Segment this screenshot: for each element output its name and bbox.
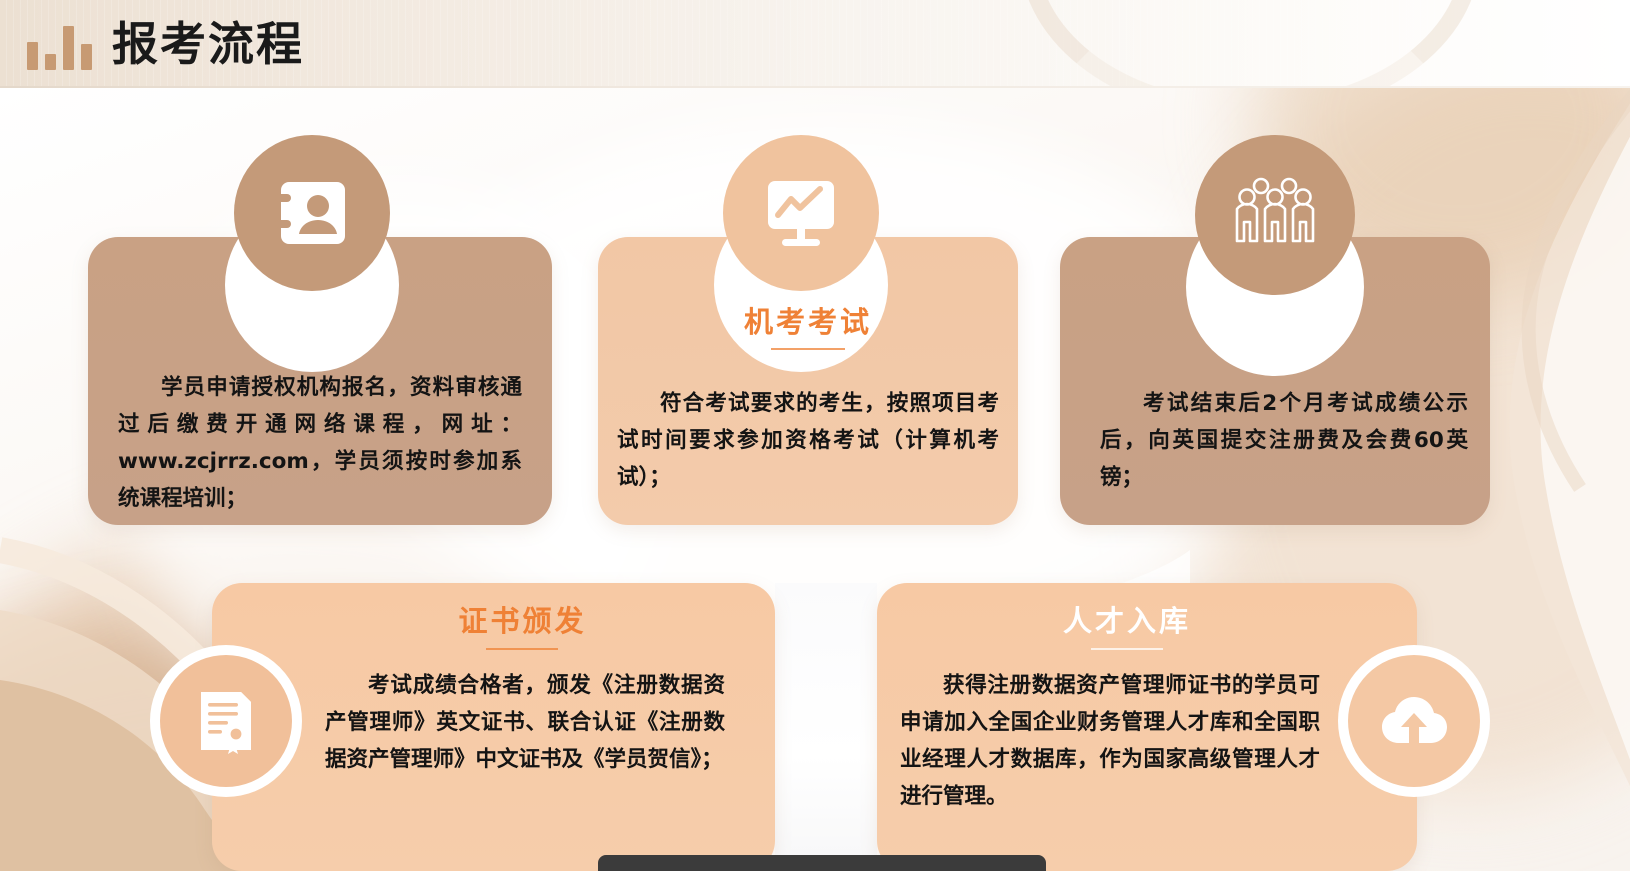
step-2-body: 符合考试要求的考生，按照项目考试时间要求参加资格考试（计算机考试）； (617, 386, 999, 497)
step-3-divider (1238, 348, 1312, 350)
step-5-title: 人才入库 (877, 607, 1377, 636)
certificate-icon (195, 688, 257, 754)
step-1-divider (283, 348, 357, 350)
people-group-icon (1232, 175, 1318, 255)
page-root: 报考流程 报名审核 学员申请授权机构报名，资料审核通过后缴费开通网络课程，网址：… (0, 0, 1630, 871)
step-4-body: 考试成绩合格者，颁发《注册数据资产管理师》英文证书、联合认证《注册数据资产管理师… (325, 668, 725, 779)
bottom-toolbar[interactable] (598, 855, 1046, 871)
bottom-gap-strip (775, 583, 877, 871)
step-3-title: 成绩公示 (1060, 308, 1490, 337)
step-1-icon-bubble (234, 135, 390, 291)
step-5-icon-bubble (1348, 655, 1480, 787)
contact-book-icon (273, 174, 351, 252)
step-2-icon-bubble (723, 135, 879, 291)
step-3-body: 考试结束后2个月考试成绩公示后，向英国提交注册费及会费60英镑； (1100, 386, 1468, 497)
step-4-divider (486, 648, 558, 650)
step-2-title: 机考考试 (598, 308, 1018, 337)
page-header: 报考流程 (0, 0, 1630, 88)
step-4-title: 证书颁发 (270, 607, 775, 636)
monitor-chart-icon (763, 175, 839, 251)
cloud-upload-icon (1379, 693, 1449, 749)
step-1-body: 学员申请授权机构报名，资料审核通过后缴费开通网络课程，网址：www.zcjrrz… (118, 370, 522, 518)
step-4-icon-bubble (160, 655, 292, 787)
step-1-title: 报名审核 (88, 308, 552, 337)
step-3-icon-bubble (1195, 135, 1355, 295)
step-5-divider (1091, 648, 1163, 650)
step-5-body: 获得注册数据资产管理师证书的学员可申请加入全国企业财务管理人才库和全国职业经理人… (900, 668, 1320, 816)
bar-chart-icon (26, 18, 92, 70)
page-title: 报考流程 (112, 21, 304, 67)
step-2-divider (771, 348, 845, 350)
header-underline (0, 86, 1630, 88)
